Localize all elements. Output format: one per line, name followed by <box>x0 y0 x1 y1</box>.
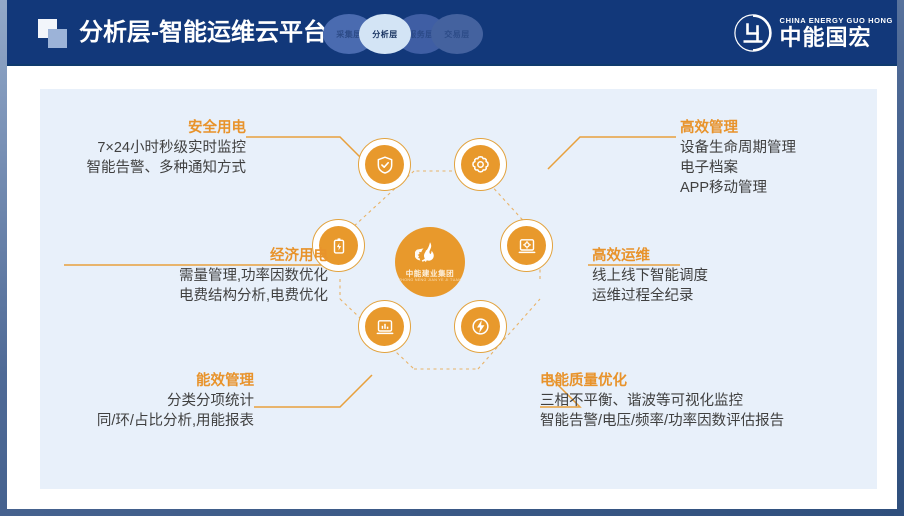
feature-line: 电费结构分析,电费优化 <box>40 286 328 306</box>
gear-icon <box>461 145 500 184</box>
center-logo-chinese: 中能建业集团 <box>406 269 455 278</box>
header-underline <box>7 64 904 66</box>
feature-title: 安全用电 <box>50 119 246 138</box>
feature-line: 智能告警/电压/频率/功率因数评估报告 <box>540 411 784 431</box>
feature-line: APP移动管理 <box>680 178 796 198</box>
bolt-circle-icon <box>461 307 500 346</box>
feature-node-efficient-ops[interactable] <box>500 219 553 272</box>
feature-node-power-quality[interactable] <box>454 300 507 353</box>
feature-line: 三相不平衡、谐波等可视化监控 <box>540 391 784 411</box>
feature-node-efficient-management[interactable] <box>454 138 507 191</box>
feature-text-safe-power: 安全用电 7×24小时秒级实时监控 智能告警、多种通知方式 <box>50 119 246 178</box>
shield-check-icon <box>365 145 404 184</box>
two-squares-logo-icon <box>38 19 69 49</box>
logo-square-blue <box>48 29 67 48</box>
pill-label: 采集层 <box>336 29 362 40</box>
feature-text-economic-power: 经济用电 需量管理,功率因数优化 电费结构分析,电费优化 <box>40 247 328 306</box>
feature-line: 智能告警、多种通知方式 <box>50 158 246 178</box>
monitor-gear-icon <box>507 226 546 265</box>
pill-label: 服务层 <box>408 29 434 40</box>
feature-line: 需量管理,功率因数优化 <box>40 266 328 286</box>
feature-line: 分类分项统计 <box>40 391 254 411</box>
feature-text-power-quality: 电能质量优化 三相不平衡、谐波等可视化监控 智能告警/电压/频率/功率因数评估报… <box>540 372 784 431</box>
feature-title: 经济用电 <box>40 247 328 266</box>
slide-header: 分析层-智能运维云平台 采集层 服务层 交易层 分析层 <box>7 0 904 66</box>
pill-analysis-layer-active[interactable]: 分析层 <box>359 14 411 54</box>
pill-trade-layer[interactable]: 交易层 <box>431 14 483 54</box>
brand-chinese: 中能国宏 <box>780 26 893 50</box>
brand-english: CHINA ENERGY GUO HONG <box>780 16 893 25</box>
feature-line: 设备生命周期管理 <box>680 138 796 158</box>
feature-line: 电子档案 <box>680 158 796 178</box>
feature-line: 线上线下智能调度 <box>592 266 708 286</box>
center-company-logo: 中能建业集团 ZHONG NENG JIAN YE JI TUAN <box>395 227 465 297</box>
content-panel: 中能建业集团 ZHONG NENG JIAN YE JI TUAN 安全用电 7… <box>40 89 877 489</box>
china-energy-guohong-logo-icon <box>733 13 773 53</box>
feature-text-energy-efficiency: 能效管理 分类分项统计 同/环/占比分析,用能报表 <box>40 372 254 431</box>
company-brand: CHINA ENERGY GUO HONG 中能国宏 <box>733 13 893 53</box>
laptop-chart-icon <box>365 307 404 346</box>
feature-line: 7×24小时秒级实时监控 <box>50 138 246 158</box>
feature-title: 高效运维 <box>592 247 708 266</box>
feature-text-efficient-management: 高效管理 设备生命周期管理 电子档案 APP移动管理 <box>680 119 796 198</box>
feature-line: 运维过程全纪录 <box>592 286 708 306</box>
feature-title: 能效管理 <box>40 372 254 391</box>
feature-title: 高效管理 <box>680 119 796 138</box>
pill-label: 交易层 <box>444 29 470 40</box>
center-logo-pinyin: ZHONG NENG JIAN YE JI TUAN <box>399 278 461 283</box>
feature-title: 电能质量优化 <box>540 372 784 391</box>
feature-node-energy-efficiency[interactable] <box>358 300 411 353</box>
page-title: 分析层-智能运维云平台 <box>79 18 327 48</box>
pill-label: 分析层 <box>372 29 398 40</box>
slide-root: 分析层-智能运维云平台 采集层 服务层 交易层 分析层 <box>0 0 904 516</box>
flame-gear-icon <box>415 241 445 267</box>
feature-line: 同/环/占比分析,用能报表 <box>40 411 254 431</box>
feature-text-efficient-ops: 高效运维 线上线下智能调度 运维过程全纪录 <box>592 247 708 306</box>
feature-node-safe-power[interactable] <box>358 138 411 191</box>
